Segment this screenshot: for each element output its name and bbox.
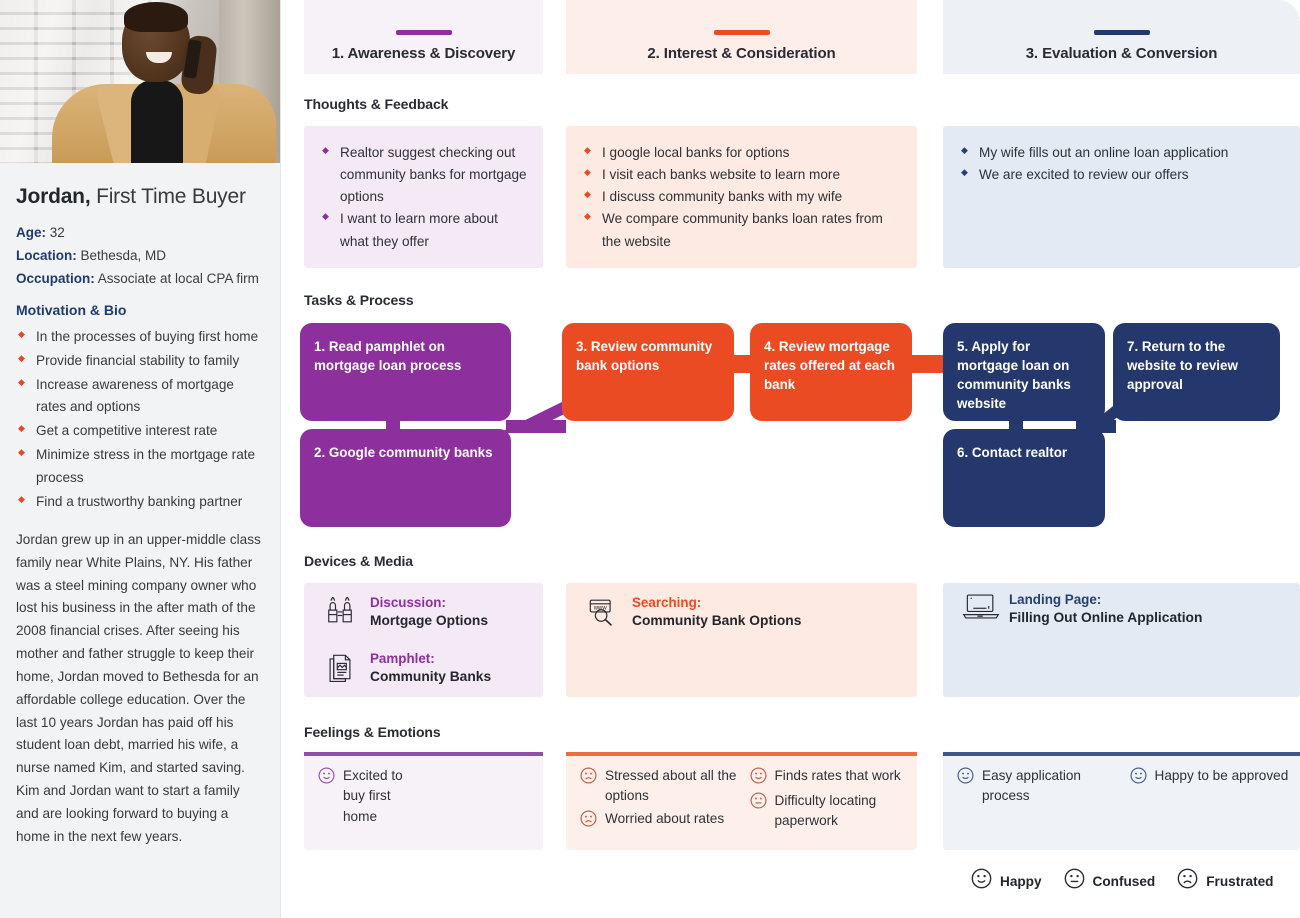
emotions-accent-bar-1	[304, 752, 543, 756]
persona-occupation-row: Occupation: Associate at local CPA firm	[16, 271, 264, 288]
device-row: Discussion:Mortgage Options	[322, 593, 537, 630]
happy-face-icon	[971, 868, 992, 894]
motivation-item: Find a trustworthy banking partner	[16, 491, 264, 513]
emotions-card-3: Easy application processHappy to be appr…	[943, 752, 1300, 850]
age-label: Age:	[16, 225, 46, 240]
emotion-column: Stressed about all the optionsWorried ab…	[580, 766, 738, 834]
occupation-label: Occupation:	[16, 271, 95, 286]
thought-item: We compare community banks loan rates fr…	[584, 208, 901, 252]
stage-header-2[interactable]: 2. Interest & Consideration	[566, 0, 917, 74]
emotion-text: Happy to be approved	[1155, 766, 1289, 786]
emotion-item: Stressed about all the options	[580, 766, 738, 807]
device-label: Searching:	[632, 595, 701, 610]
persona-first-name: Jordan,	[16, 185, 90, 208]
laptop-icon	[961, 590, 997, 626]
thoughts-panel-2: I google local banks for optionsI visit …	[566, 126, 917, 268]
legend-label: Frustrated	[1206, 874, 1273, 889]
task-box-5[interactable]: 5. Apply for mortgage loan on community …	[943, 323, 1105, 421]
device-label: Discussion:	[370, 595, 446, 610]
persona-role: First Time Buyer	[90, 185, 245, 208]
task-box-4[interactable]: 4. Review mortgage rates offered at each…	[750, 323, 912, 421]
motivation-item: In the processes of buying first home	[16, 326, 264, 348]
stage-accent-rule-2	[714, 30, 770, 35]
device-value: Filling Out Online Application	[1009, 609, 1202, 627]
emotions-accent-bar-2	[566, 752, 917, 756]
connector-2-3-stub	[506, 420, 566, 433]
emotions-accent-bar-3	[943, 752, 1300, 756]
device-row: wwwSearching:Community Bank Options	[584, 593, 914, 630]
frustrated-face-icon	[580, 810, 597, 832]
device-label: Pamphlet:	[370, 651, 435, 666]
connector-3-4	[734, 355, 752, 373]
persona-bio: Jordan grew up in an upper-middle class …	[16, 529, 264, 849]
stage-header-1[interactable]: 1. Awareness & Discovery	[304, 0, 543, 74]
emotions-card-1: Excited to buy first home	[304, 752, 543, 850]
persona-sidebar: Jordan, First Time Buyer Age: 32 Locatio…	[0, 0, 281, 918]
stage-title-3: 3. Evaluation & Conversion	[1026, 45, 1218, 62]
motivation-heading: Motivation & Bio	[16, 302, 264, 318]
occupation-value: Associate at local CPA firm	[95, 271, 259, 286]
stage-header-3[interactable]: 3. Evaluation & Conversion	[943, 0, 1300, 74]
legend-item-frustrated: Frustrated	[1177, 868, 1273, 894]
connector-2-3	[501, 398, 597, 432]
task-box-3[interactable]: 3. Review community bank options	[562, 323, 734, 421]
stage-title-1: 1. Awareness & Discovery	[332, 45, 516, 62]
emotion-column	[432, 766, 534, 829]
persona-location-row: Location: Bethesda, MD	[16, 248, 264, 265]
device-row: Landing Page:Filling Out Online Applicat…	[961, 590, 1291, 627]
connector-1-2	[386, 405, 400, 437]
emotion-item: Difficulty locating paperwork	[750, 791, 908, 832]
motivation-item: Get a competitive interest rate	[16, 420, 264, 442]
device-value: Community Bank Options	[632, 612, 801, 630]
section-title-tasks: Tasks & Process	[304, 292, 414, 308]
emotion-item: Easy application process	[957, 766, 1118, 807]
task-box-2[interactable]: 2. Google community banks	[300, 429, 511, 527]
happy-face-icon	[957, 767, 974, 789]
thought-item: I google local banks for options	[584, 142, 901, 164]
thoughts-panel-1: Realtor suggest checking out community b…	[304, 126, 543, 268]
task-box-6[interactable]: 6. Contact realtor	[943, 429, 1105, 527]
persona-age-row: Age: 32	[16, 225, 264, 242]
motivation-list: In the processes of buying first homePro…	[16, 326, 264, 513]
happy-face-icon	[750, 767, 767, 789]
emotions-card-2: Stressed about all the optionsWorried ab…	[566, 752, 917, 850]
connector-6-7-stub	[1076, 420, 1116, 433]
frustrated-face-icon	[1177, 868, 1198, 894]
emotion-text: Easy application process	[982, 766, 1118, 807]
emotion-item: Finds rates that work	[750, 766, 908, 789]
happy-face-icon	[318, 767, 335, 789]
emotion-column: Finds rates that workDifficulty locating…	[750, 766, 908, 834]
emotion-text: Excited to buy first home	[343, 766, 420, 827]
device-row: Pamphlet:Community Banks	[322, 649, 537, 686]
emotion-item: Happy to be approved	[1130, 766, 1291, 789]
stage-accent-rule-3	[1094, 30, 1150, 35]
emotion-legend: HappyConfusedFrustrated	[971, 868, 1273, 894]
thought-item: I visit each banks website to learn more	[584, 164, 901, 186]
motivation-item: Increase awareness of mortgage rates and…	[16, 374, 264, 418]
thought-item: I discuss community banks with my wife	[584, 186, 901, 208]
legend-label: Happy	[1000, 874, 1042, 889]
thoughts-panel-3: My wife fills out an online loan applica…	[943, 126, 1300, 268]
emotion-text: Difficulty locating paperwork	[775, 791, 908, 832]
www-search-magnifier-icon: www	[584, 593, 620, 629]
legend-item-confused: Confused	[1064, 868, 1156, 894]
device-value: Mortgage Options	[370, 612, 488, 630]
task-box-1[interactable]: 1. Read pamphlet on mortgage loan proces…	[300, 323, 511, 421]
frustrated-face-icon	[580, 767, 597, 789]
section-title-thoughts: Thoughts & Feedback	[304, 96, 448, 112]
thought-item: My wife fills out an online loan applica…	[961, 142, 1284, 164]
device-label: Landing Page:	[1009, 592, 1101, 607]
emotion-text: Stressed about all the options	[605, 766, 738, 807]
location-value: Bethesda, MD	[77, 248, 166, 263]
legend-label: Confused	[1093, 874, 1156, 889]
thoughts-list-1: Realtor suggest checking out community b…	[304, 126, 543, 265]
confused-face-icon	[1064, 868, 1085, 894]
thought-item: Realtor suggest checking out community b…	[322, 142, 527, 208]
thought-item: I want to learn more about what they off…	[322, 208, 527, 252]
persona-photo	[0, 0, 281, 163]
emotion-item: Worried about rates	[580, 809, 738, 832]
confused-face-icon	[750, 792, 767, 814]
emotion-text: Worried about rates	[605, 809, 724, 829]
motivation-item: Minimize stress in the mortgage rate pro…	[16, 444, 264, 488]
pamphlet-documents-icon	[322, 649, 358, 685]
persona-name: Jordan, First Time Buyer	[16, 185, 264, 209]
connector-5-6	[1009, 405, 1023, 437]
emotion-column: Excited to buy first home	[318, 766, 420, 829]
stage-title-2: 2. Interest & Consideration	[647, 45, 835, 62]
emotion-column: Happy to be approved	[1130, 766, 1291, 809]
thought-item: We are excited to review our offers	[961, 164, 1284, 186]
happy-face-icon	[1130, 767, 1147, 789]
stage-header-row: 1. Awareness & Discovery 2. Interest & C…	[281, 0, 1300, 74]
legend-item-happy: Happy	[971, 868, 1042, 894]
age-value: 32	[46, 225, 65, 240]
stage-accent-rule-1	[396, 30, 452, 35]
motivation-item: Provide financial stability to family	[16, 350, 264, 372]
thoughts-list-2: I google local banks for optionsI visit …	[566, 126, 917, 265]
connector-6-7	[1081, 398, 1141, 432]
section-title-feelings: Feelings & Emotions	[304, 724, 441, 740]
discussion-people-icon	[322, 593, 358, 629]
location-label: Location:	[16, 248, 77, 263]
section-title-devices: Devices & Media	[304, 553, 413, 569]
device-value: Community Banks	[370, 668, 491, 686]
emotion-column: Easy application process	[957, 766, 1118, 809]
thoughts-list-3: My wife fills out an online loan applica…	[943, 126, 1300, 198]
journey-map: 1. Awareness & Discovery 2. Interest & C…	[281, 0, 1300, 918]
task-box-7[interactable]: 7. Return to the website to review appro…	[1113, 323, 1280, 421]
emotion-item: Excited to buy first home	[318, 766, 420, 827]
emotion-text: Finds rates that work	[775, 766, 901, 786]
connector-4-5	[906, 355, 952, 373]
